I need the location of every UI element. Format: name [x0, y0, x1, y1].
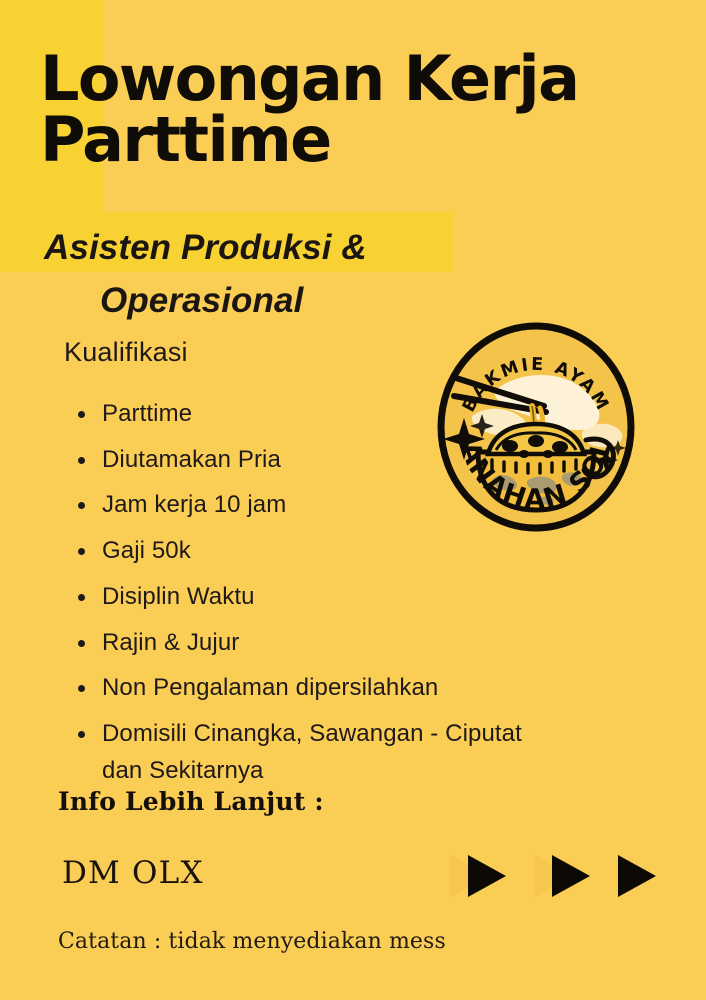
- info-heading: Info Lebih Lanjut :: [58, 787, 324, 816]
- list-item-text: Gaji 50k: [102, 537, 191, 564]
- play-arrow-1-icon: [468, 855, 506, 897]
- page-title: Lowongan Kerja Parttime: [40, 48, 660, 171]
- contact-handle: DM OLX: [62, 855, 204, 891]
- list-item: Disiplin Waktu: [72, 579, 652, 616]
- headline-line-2: Parttime: [40, 109, 660, 170]
- list-item-text: Rajin & Jujur: [102, 629, 239, 656]
- list-item: Domisili Cinangka, Sawangan - Ciputat da…: [72, 716, 652, 789]
- footer-note: Catatan : tidak menyediakan mess: [58, 929, 446, 954]
- job-subtitle: Asisten Produksi & Operasional: [44, 222, 644, 327]
- subtitle-line-1: Asisten Produksi &: [44, 222, 644, 275]
- headline-line-1: Lowongan Kerja: [40, 48, 660, 109]
- bakmie-ayam-manahan-solo-logo: BAKMIE AYAM MANAHAN SOLO: [436, 320, 636, 534]
- list-item-text: Parttime: [102, 400, 192, 427]
- list-item: Gaji 50k: [72, 533, 652, 570]
- play-arrow-3-icon: [618, 855, 656, 897]
- list-item-text-continuation: dan Sekitarnya: [102, 753, 652, 790]
- list-item-text: Non Pengalaman dipersilahkan: [102, 674, 438, 701]
- job-poster: Lowongan Kerja Parttime Asisten Produksi…: [0, 0, 706, 1000]
- play-arrow-2-icon: [552, 855, 590, 897]
- list-item-text: Diutamakan Pria: [102, 446, 281, 473]
- list-item-text: Disiplin Waktu: [102, 583, 255, 610]
- list-item: Non Pengalaman dipersilahkan: [72, 670, 652, 707]
- arrow-decoration-row: [448, 850, 658, 902]
- list-item-text: Domisili Cinangka, Sawangan - Ciputat: [102, 720, 522, 747]
- list-item-text: Jam kerja 10 jam: [102, 491, 286, 518]
- qualifications-heading: Kualifikasi: [64, 337, 188, 368]
- list-item: Rajin & Jujur: [72, 625, 652, 662]
